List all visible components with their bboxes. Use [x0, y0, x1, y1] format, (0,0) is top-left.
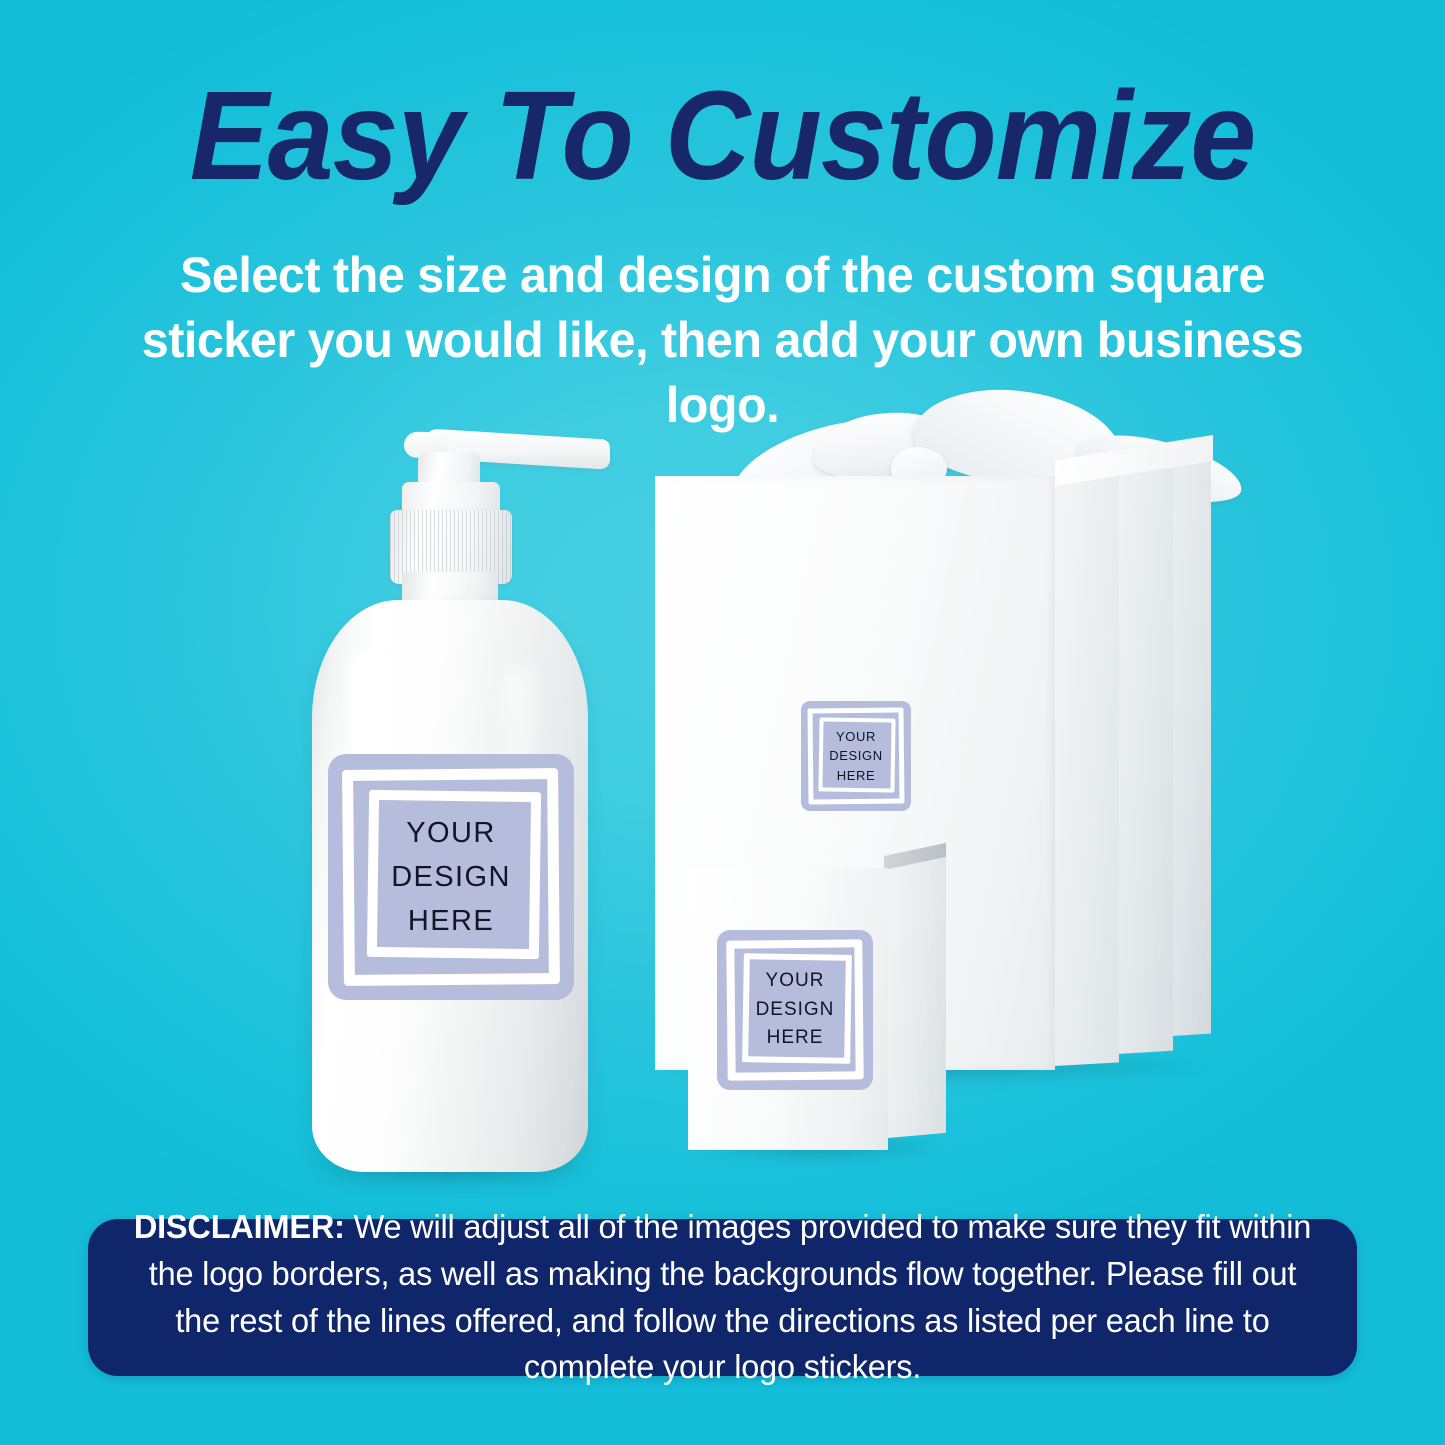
- sticker-placeholder-text: YOUR DESIGN HERE: [756, 967, 835, 1053]
- disclaimer-text: DISCLAIMER: We will adjust all of the im…: [98, 1204, 1348, 1391]
- disclaimer-label: DISCLAIMER:: [134, 1208, 345, 1245]
- promo-banner: Easy To Customize Select the size and de…: [0, 0, 1445, 1445]
- sticker-placeholder-text: YOUR DESIGN HERE: [391, 811, 511, 943]
- gift-box-side-panel-3: [1171, 448, 1211, 1036]
- sticker-placeholder-text: YOUR DESIGN HERE: [829, 727, 882, 785]
- gift-box-sticker: YOUR DESIGN HERE: [801, 701, 911, 811]
- gift-box-side-panel-1: [1055, 458, 1119, 1066]
- small-box-sticker: YOUR DESIGN HERE: [717, 930, 873, 1090]
- small-box-side-panel: [888, 855, 946, 1138]
- bottle-sticker: YOUR DESIGN HERE: [328, 754, 574, 1000]
- gift-box-side-panel-2: [1117, 453, 1173, 1054]
- disclaimer-banner: DISCLAIMER: We will adjust all of the im…: [88, 1219, 1357, 1376]
